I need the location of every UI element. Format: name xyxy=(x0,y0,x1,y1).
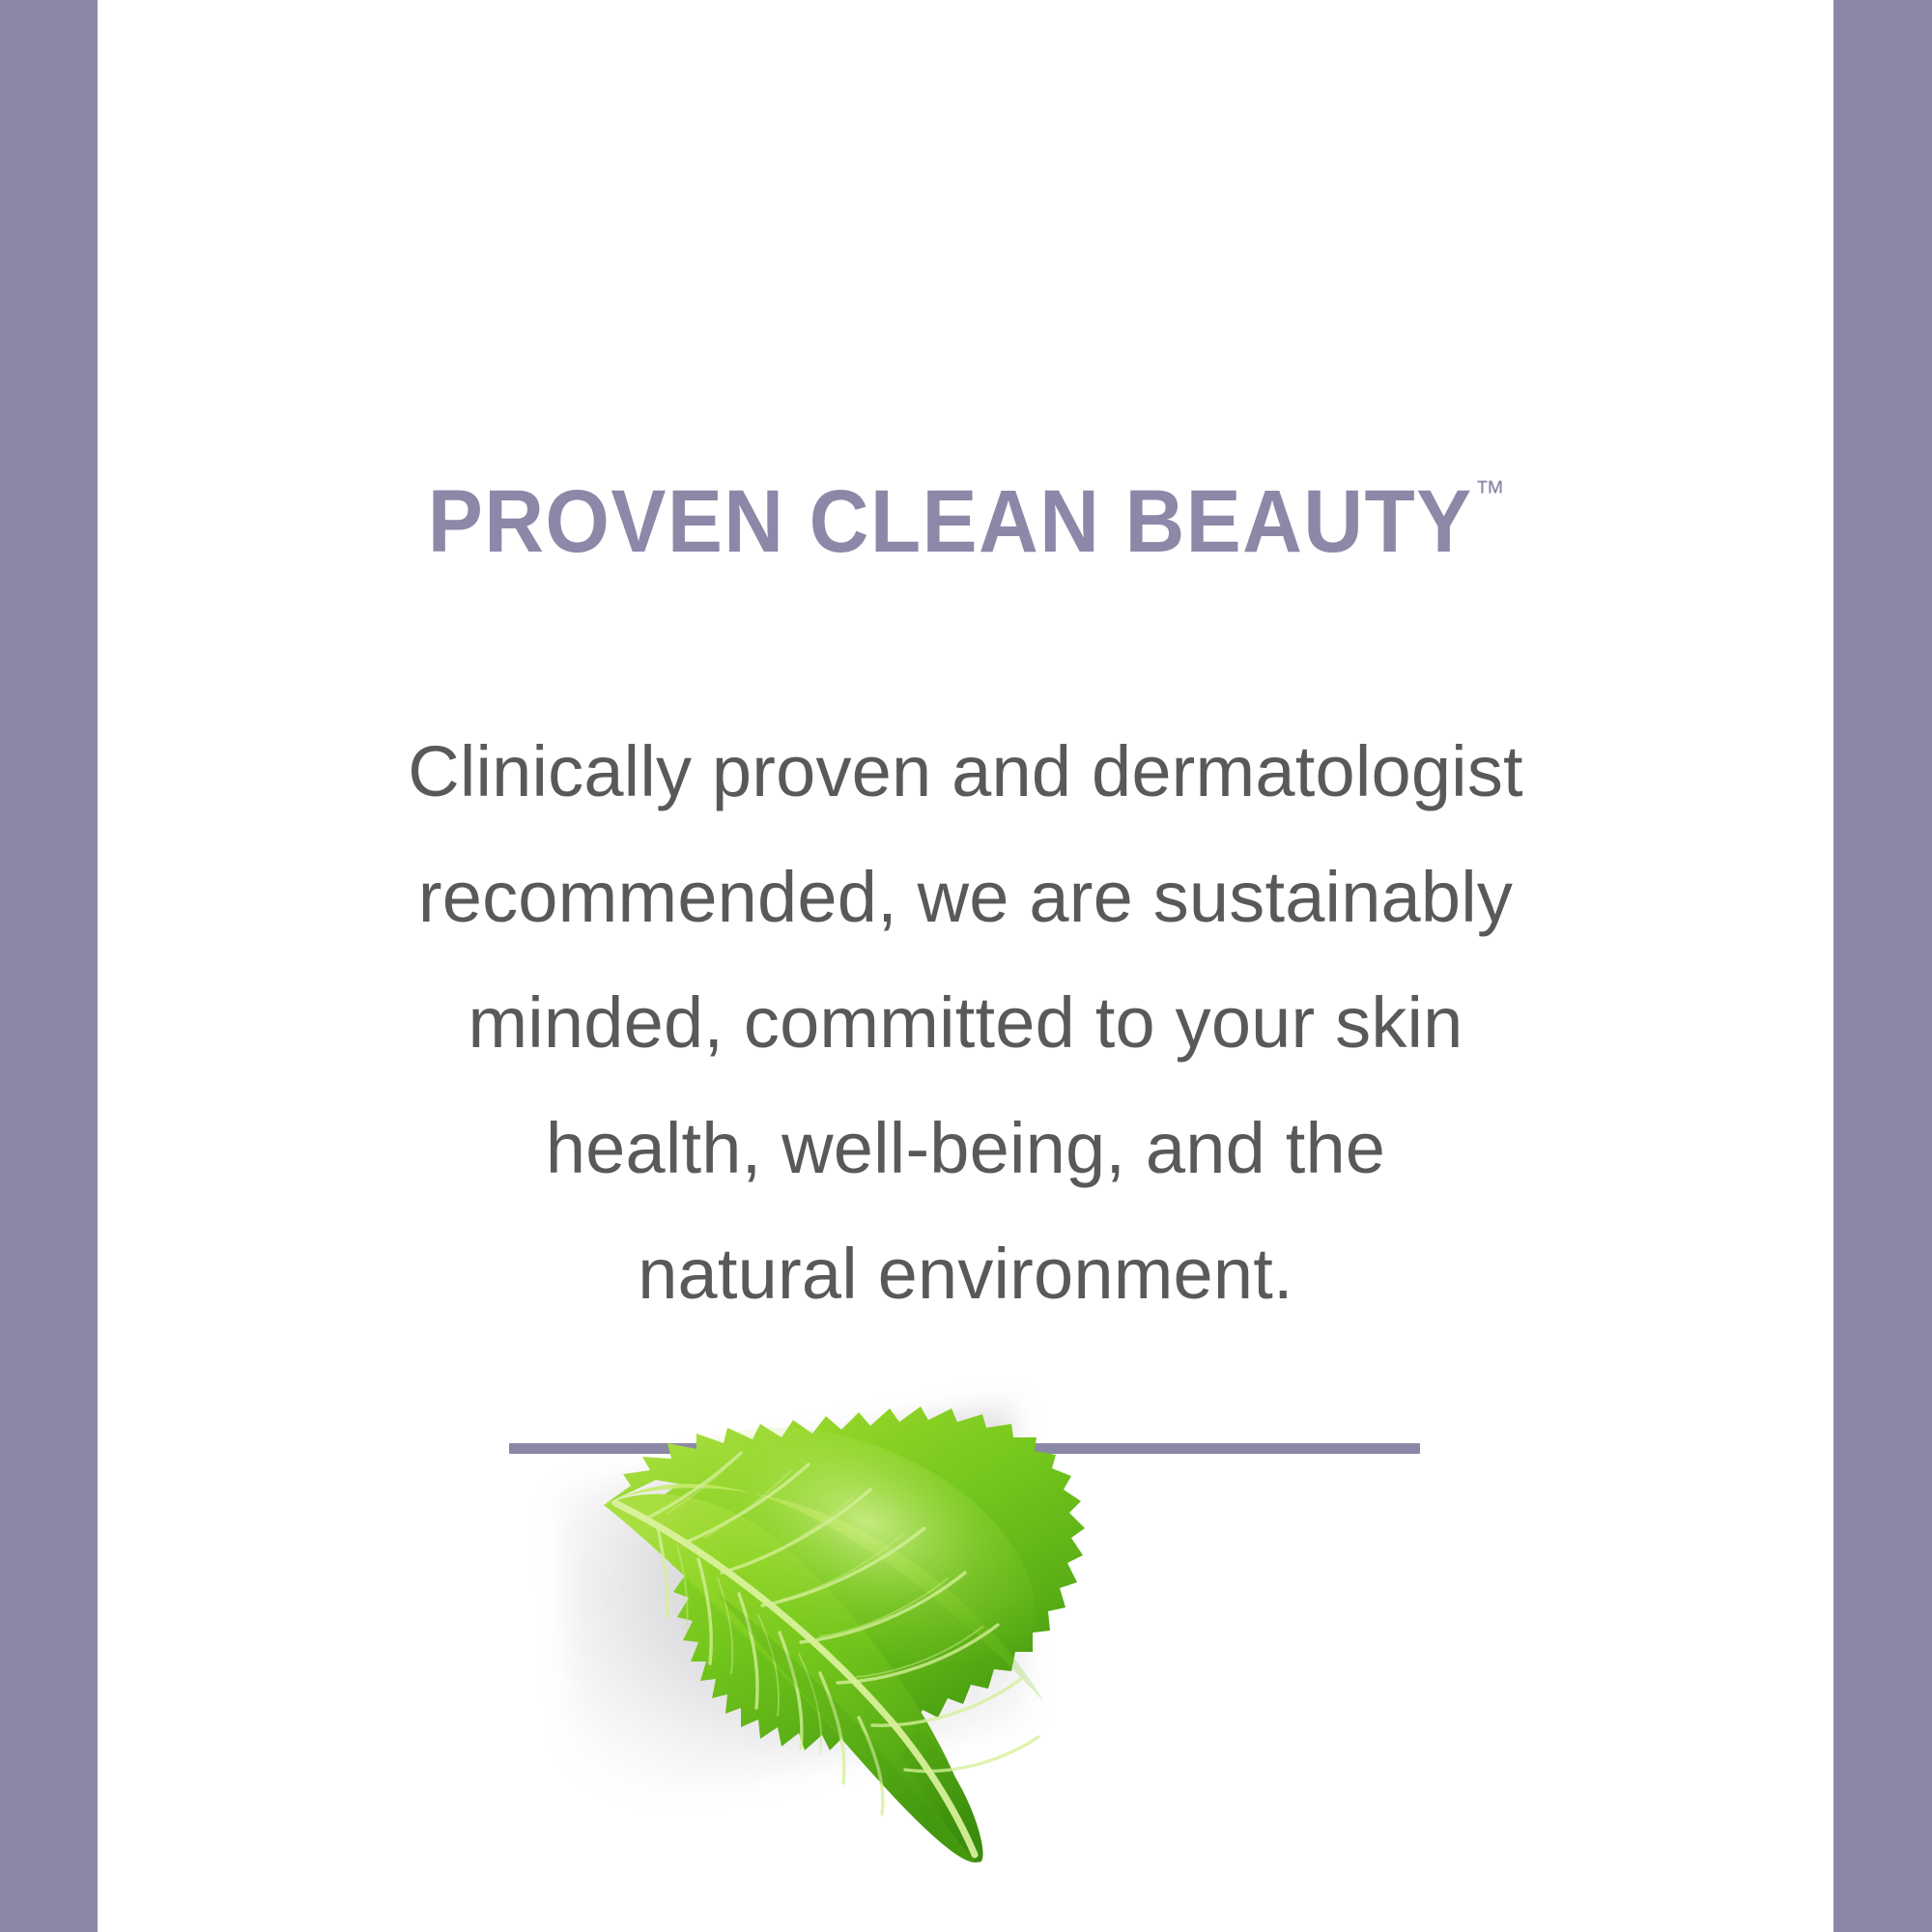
description-line-2: recommended, we are sustainably xyxy=(232,835,1700,960)
description-paragraph: Clinically proven and dermatologist reco… xyxy=(232,709,1700,1337)
leaf-graphic xyxy=(523,1323,1257,1864)
page-title-text: PROVEN CLEAN BEAUTY xyxy=(428,472,1473,571)
description-line-1: Clinically proven and dermatologist xyxy=(232,709,1700,835)
leaf-blade xyxy=(604,1375,1085,1862)
page-title: PROVEN CLEAN BEAUTY™ xyxy=(158,477,1773,566)
trademark-symbol: ™ xyxy=(1474,474,1505,511)
description-line-5: natural environment. xyxy=(232,1211,1700,1337)
green-leaf-icon xyxy=(523,1323,1257,1864)
right-purple-band xyxy=(1833,0,1932,1932)
content-column: PROVEN CLEAN BEAUTY™ Clinically proven a… xyxy=(98,0,1833,1932)
description-line-3: minded, committed to your skin xyxy=(232,960,1700,1086)
description-line-4: health, well-being, and the xyxy=(232,1086,1700,1211)
left-purple-band xyxy=(0,0,98,1932)
slide-canvas: PROVEN CLEAN BEAUTY™ Clinically proven a… xyxy=(0,0,1932,1932)
